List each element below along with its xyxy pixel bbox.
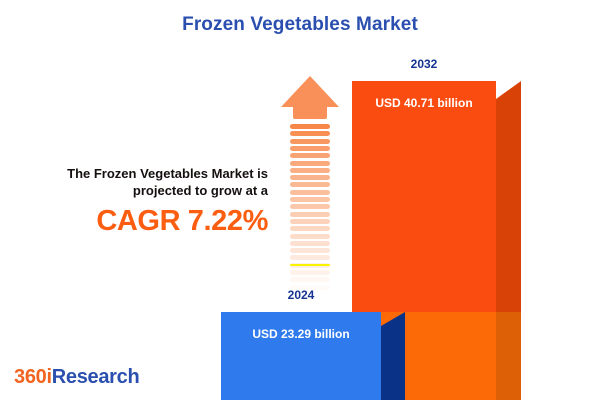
arrow-stripe (290, 197, 330, 202)
bar-2032-value-label: USD 40.71 billion (352, 96, 496, 110)
arrow-stripe (290, 131, 330, 136)
bar-2024-year-label: 2024 (221, 288, 381, 302)
arrow-stripe (290, 277, 330, 282)
arrow-stripe (290, 270, 330, 275)
arrow-stripe (290, 234, 330, 239)
bar-2024-value-label: USD 23.29 billion (221, 327, 381, 341)
cagr-highlight: CAGR 7.22% (16, 204, 268, 238)
arrow-neck-shape (293, 106, 327, 119)
logo-research-text: Research (52, 366, 140, 388)
arrow-stripe (290, 161, 330, 166)
arrow-stripe (290, 212, 330, 217)
brand-logo: 360iResearch (14, 366, 139, 389)
arrow-stripe (290, 241, 330, 246)
infographic-canvas: Frozen Vegetables Market 2032 USD 40.71 … (0, 0, 600, 400)
bar-2032-side-face-lower (496, 312, 521, 400)
statement-line-2: projected to grow at a (16, 182, 268, 199)
arrow-stripe (290, 175, 330, 180)
arrow-stripe (290, 153, 330, 158)
statement-block: The Frozen Vegetables Market is projecte… (16, 165, 268, 238)
arrow-stripe (290, 124, 330, 129)
arrow-stripe (290, 190, 330, 195)
bar-2024-side-face (381, 312, 405, 400)
statement-line-1: The Frozen Vegetables Market is (16, 165, 268, 182)
arrow-stripe (290, 255, 330, 260)
arrow-stripe (290, 219, 330, 224)
up-arrow-icon (281, 76, 339, 291)
arrow-stripe (290, 182, 330, 187)
arrow-stripe (290, 226, 330, 231)
arrow-accent-line (290, 264, 330, 266)
logo-360i-text: 360i (14, 366, 52, 388)
bar-2024-front-face (221, 312, 381, 400)
arrow-stripe (290, 168, 330, 173)
bar-2032-year-label: 2032 (352, 57, 496, 71)
page-title: Frozen Vegetables Market (0, 14, 600, 36)
arrow-stripe (290, 139, 330, 144)
arrow-stripe (290, 204, 330, 209)
arrow-stripe (290, 248, 330, 253)
arrow-head-icon (281, 76, 339, 107)
arrow-stripe (290, 146, 330, 151)
